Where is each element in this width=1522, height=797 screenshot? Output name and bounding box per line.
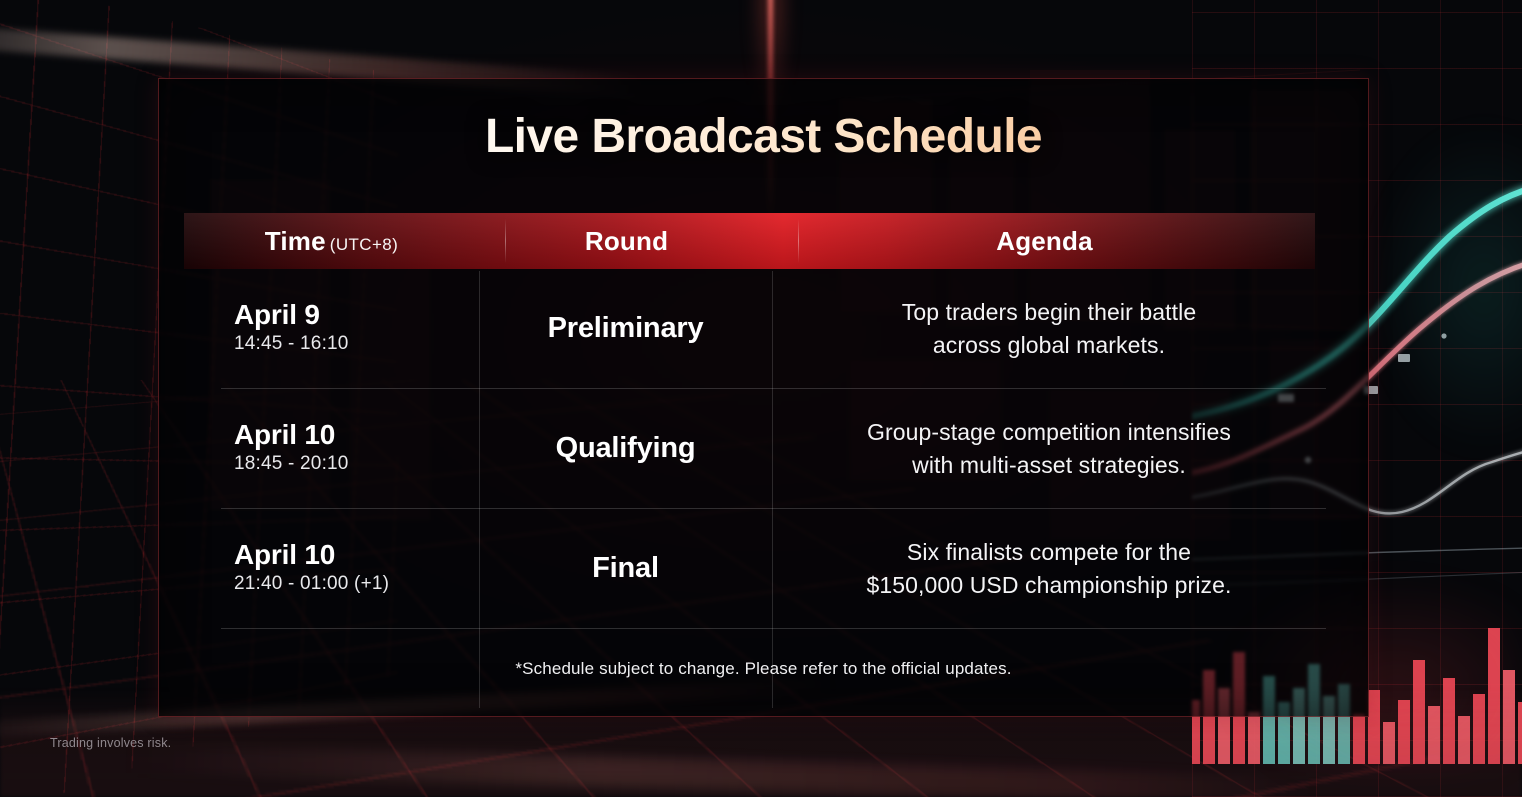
agenda-line-1: Top traders begin their battle	[788, 296, 1310, 329]
screenshot-root: Live Broadcast Schedule Time(UTC+8) Roun…	[0, 0, 1522, 797]
column-header-time-label: Time	[265, 226, 326, 256]
cell-time: April 10 21:40 - 01:00 (+1)	[221, 539, 479, 598]
agenda-line-1: Group-stage competition intensifies	[788, 416, 1310, 449]
column-header-time: Time(UTC+8)	[184, 226, 479, 257]
cell-round: Final	[479, 552, 772, 585]
agenda-line-2: $150,000 USD championship prize.	[788, 569, 1310, 602]
cell-agenda: Top traders begin their battle across gl…	[772, 296, 1326, 361]
cell-time: April 10 18:45 - 20:10	[221, 419, 479, 478]
schedule-date: April 10	[234, 419, 479, 450]
table-header-row: Time(UTC+8) Round Agenda	[184, 213, 1315, 269]
table-row: April 10 18:45 - 20:10 Qualifying Group-…	[221, 389, 1326, 509]
schedule-table-body: April 9 14:45 - 16:10 Preliminary Top tr…	[221, 269, 1326, 629]
column-header-round: Round	[479, 226, 774, 257]
agenda-line-2: across global markets.	[788, 329, 1310, 362]
cell-round: Qualifying	[479, 432, 772, 465]
cell-round: Preliminary	[479, 312, 772, 345]
header-divider-2	[798, 219, 799, 263]
column-header-time-timezone: (UTC+8)	[330, 235, 398, 254]
cell-time: April 9 14:45 - 16:10	[221, 299, 479, 358]
schedule-footnote: *Schedule subject to change. Please refe…	[159, 659, 1368, 679]
schedule-time-range: 18:45 - 20:10	[234, 451, 479, 478]
cell-agenda: Group-stage competition intensifies with…	[772, 416, 1326, 481]
agenda-line-2: with multi-asset strategies.	[788, 449, 1310, 482]
page-title: Live Broadcast Schedule	[159, 109, 1368, 164]
cell-agenda: Six finalists compete for the $150,000 U…	[772, 536, 1326, 601]
schedule-time-range: 21:40 - 01:00 (+1)	[234, 571, 479, 598]
risk-disclaimer: Trading involves risk.	[50, 736, 171, 750]
schedule-date: April 10	[234, 539, 479, 570]
table-row: April 9 14:45 - 16:10 Preliminary Top tr…	[221, 269, 1326, 389]
header-divider-1	[505, 219, 506, 263]
column-header-agenda: Agenda	[774, 226, 1315, 257]
schedule-card: Live Broadcast Schedule Time(UTC+8) Roun…	[158, 78, 1369, 717]
table-row: April 10 21:40 - 01:00 (+1) Final Six fi…	[221, 509, 1326, 629]
schedule-date: April 9	[234, 299, 479, 330]
agenda-line-1: Six finalists compete for the	[788, 536, 1310, 569]
schedule-time-range: 14:45 - 16:10	[234, 331, 479, 358]
